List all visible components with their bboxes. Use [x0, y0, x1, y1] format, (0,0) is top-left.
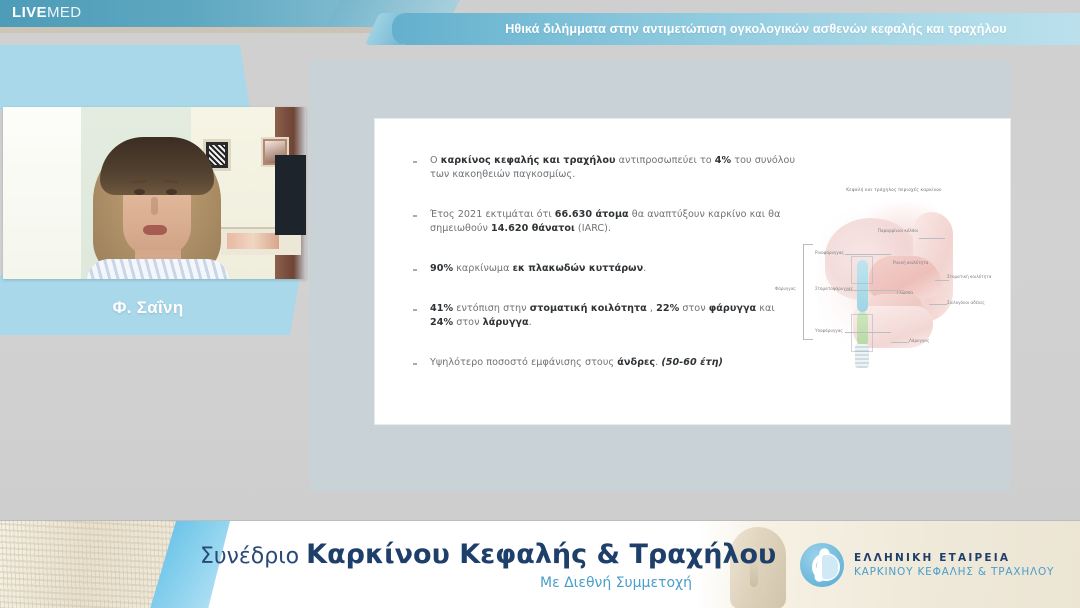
webinar-player: LIVEMED Ηθικά διλήμματα στην αντιμετώπισ…	[0, 0, 1080, 608]
label-hypopharynx: Υποφάρυγγας	[815, 328, 843, 333]
session-title-banner: Ηθικά διλήμματα στην αντιμετώπιση ογκολο…	[392, 13, 1080, 45]
room-wall-left	[3, 107, 81, 279]
label-pharynx: Φάρυγγας	[775, 286, 796, 291]
list-item: Ο καρκίνος κεφαλής και τραχήλου αντιπροσ…	[408, 154, 798, 182]
session-title: Ηθικά διλήμματα στην αντιμετώπιση ογκολο…	[465, 22, 1007, 36]
label-salivary-glands: Σιελογόνοι αδένες	[947, 300, 985, 305]
speaker-webcam-feed[interactable]	[3, 107, 306, 279]
head-neck-anatomy-figure: Κεφαλή και τράχηλος περιοχές καρκίνου Φά…	[789, 188, 989, 388]
conference-subtitle: Με Διεθνή Συμμετοχή	[540, 575, 692, 591]
video-frame-top-accent	[0, 45, 250, 110]
leader-line-paranasal	[919, 238, 945, 239]
nasopharynx-box	[851, 256, 873, 284]
presentation-slide[interactable]: Ο καρκίνος κεφαλής και τραχήλου αντιπροσ…	[375, 119, 1010, 424]
logo-live-text: LIVE	[12, 4, 47, 21]
conference-title-prefix: Συνέδριο	[200, 544, 306, 569]
leader-line-salivary	[929, 304, 947, 305]
label-oral-cavity: Στοματική κοιλότητα	[947, 274, 987, 279]
room-monitor	[275, 155, 306, 235]
society-name-line2: ΚΑΡΚΙΝΟΥ ΚΕΦΑΛΗΣ & ΤΡΑΧΗΛΟΥ	[854, 566, 1054, 578]
speaker-eye-left	[134, 189, 145, 195]
speaker-clothing	[87, 259, 229, 279]
label-larynx: Λάρυγγας	[909, 338, 929, 343]
list-item: 90% καρκίνωμα εκ πλακωδών κυττάρων.	[408, 262, 798, 276]
society-ribbon-icon	[800, 543, 844, 587]
speaker-mouth	[143, 225, 167, 235]
leader-line-oropharynx	[845, 290, 903, 291]
hypopharynx-box	[851, 314, 873, 352]
bullet-text: Έτος 2021 εκτιμάται ότι 66.630 άτομα θα …	[430, 208, 798, 236]
conference-footer: Συνέδριο Καρκίνου Κεφαλής & Τραχήλου Με …	[0, 520, 1080, 608]
label-nasopharynx: Ρινοφάρυγγας	[815, 250, 844, 255]
society-logo-block: ΕΛΛΗΝΙΚΗ ΕΤΑΙΡΕΙΑ ΚΑΡΚΙΝΟΥ ΚΕΦΑΛΗΣ & ΤΡΑ…	[800, 543, 1054, 587]
label-nasal-cavity: Ρινική κοιλότητα	[893, 260, 928, 265]
speaker-video-panel[interactable]: Φ. Σαΐνη	[0, 45, 310, 335]
speaker-hair-front	[100, 137, 214, 195]
society-face-icon	[822, 555, 838, 579]
bullet-text: Υψηλότερο ποσοστό εμφάνισης στους άνδρες…	[430, 356, 798, 370]
list-item: Υψηλότερο ποσοστό εμφάνισης στους άνδρες…	[408, 356, 798, 370]
brand-bar: LIVEMED	[0, 0, 420, 27]
conference-title: Συνέδριο Καρκίνου Κεφαλής & Τραχήλου	[200, 539, 776, 570]
list-item: 41% εντόπιση στην στοματική κοιλότητα , …	[408, 302, 798, 330]
bullet-text: 41% εντόπιση στην στοματική κοιλότητα , …	[430, 302, 798, 330]
livemed-logo: LIVEMED	[12, 4, 82, 21]
leader-line-larynx	[891, 342, 909, 343]
bullet-text: 90% καρκίνωμα εκ πλακωδών κυττάρων.	[430, 262, 798, 276]
leader-line-nasopharynx	[845, 254, 891, 255]
speaker-nose	[151, 197, 158, 215]
pharynx-bracket	[803, 244, 813, 340]
logo-med-text: MED	[47, 4, 82, 21]
speaker-eye-right	[166, 189, 177, 195]
leader-line-hypopharynx	[845, 332, 891, 333]
label-paranasal-sinuses: Παραρρίνιοι κόλποι	[877, 228, 919, 233]
conference-title-main: Καρκίνου Κεφαλής & Τραχήλου	[306, 539, 776, 570]
leader-line-oral-cavity	[935, 280, 949, 281]
speaker-name-label: Φ. Σαΐνη	[0, 293, 296, 323]
bullet-text: Ο καρκίνος κεφαλής και τραχήλου αντιπροσ…	[430, 154, 798, 182]
figure-title: Κεφαλή και τράχηλος περιοχές καρκίνου	[819, 188, 969, 193]
list-item: Έτος 2021 εκτιμάται ότι 66.630 άτομα θα …	[408, 208, 798, 236]
slide-bullet-list: Ο καρκίνος κεφαλής και τραχήλου αντιπροσ…	[408, 154, 798, 396]
society-name-line1: ΕΛΛΗΝΙΚΗ ΕΤΑΙΡΕΙΑ	[854, 552, 1054, 564]
